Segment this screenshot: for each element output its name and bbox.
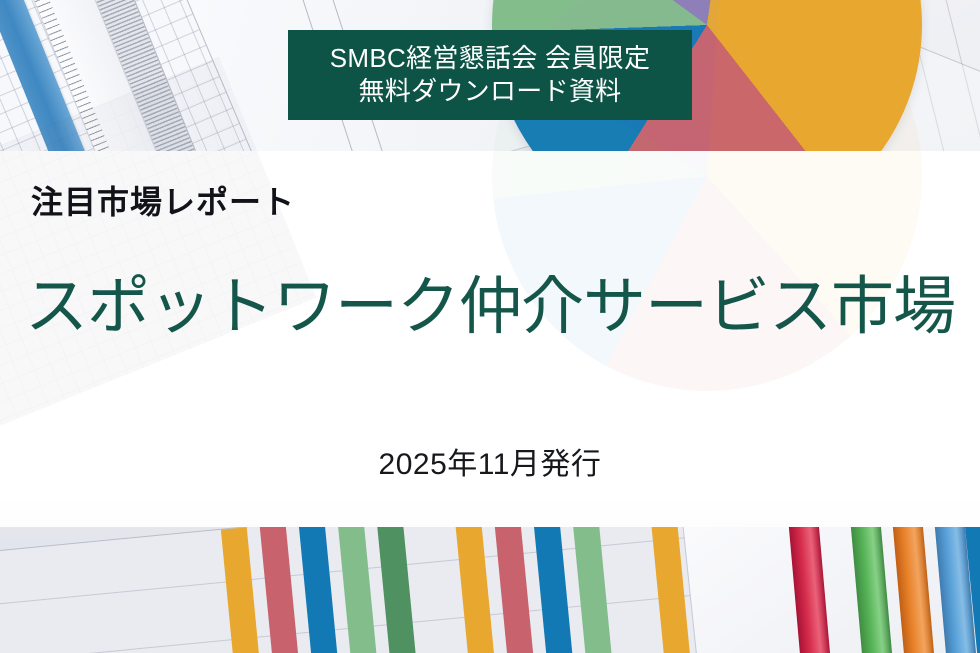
page-title: スポットワーク仲介サービス市場 — [25, 276, 955, 339]
membership-badge: SMBC経営懇話会 会員限定 無料ダウンロード資料 — [288, 30, 692, 120]
content-panel: 注目市場レポート スポットワーク仲介サービス市場 2025年11月発行 — [0, 151, 980, 527]
report-kicker: 注目市場レポート — [31, 177, 295, 223]
publish-date: 2025年11月発行 — [379, 439, 602, 483]
report-cover: 注目市場レポート スポットワーク仲介サービス市場 2025年11月発行 SMBC… — [0, 0, 980, 653]
badge-line-1: SMBC経営懇話会 会員限定 — [330, 43, 651, 74]
badge-line-2: 無料ダウンロード資料 — [358, 76, 621, 107]
